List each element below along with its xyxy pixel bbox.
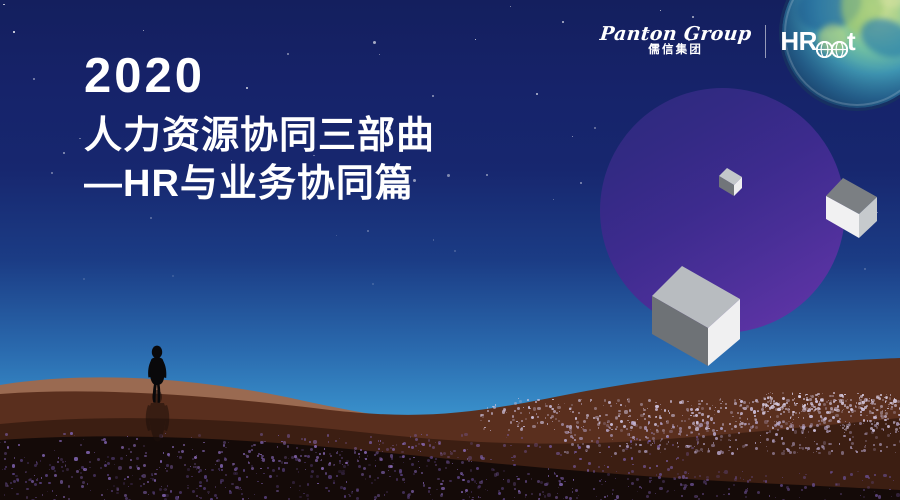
flower-speck	[292, 481, 295, 484]
flower-speck	[525, 418, 527, 420]
flower-speck	[880, 411, 883, 414]
flower-speck	[746, 405, 749, 408]
flower-speck	[682, 459, 684, 461]
flower-speck	[587, 469, 590, 472]
flower-speck	[694, 476, 697, 479]
flower-speck	[93, 474, 96, 477]
flower-speck	[482, 416, 485, 419]
flower-speck	[628, 401, 630, 403]
flower-speck	[261, 483, 263, 485]
flower-speck	[639, 439, 641, 441]
flower-speck	[248, 450, 250, 452]
flower-speck	[377, 494, 380, 497]
flower-speck	[428, 490, 430, 492]
flower-speck	[467, 480, 470, 483]
flower-speck	[836, 409, 839, 412]
flower-speck	[824, 426, 828, 430]
flower-speck	[309, 441, 311, 443]
flower-speck	[871, 399, 875, 403]
flower-speck	[345, 462, 347, 464]
flower-speck	[486, 479, 487, 480]
flower-speck	[878, 425, 879, 426]
flower-speck	[111, 490, 113, 492]
flower-speck	[878, 397, 881, 400]
flower-speck	[890, 433, 891, 434]
flower-speck	[467, 449, 468, 450]
flower-speck	[748, 423, 750, 425]
flower-speck	[525, 480, 528, 483]
flower-speck	[376, 451, 379, 454]
flower-speck	[570, 431, 573, 434]
flower-speck	[844, 429, 845, 430]
flower-speck	[504, 409, 506, 411]
flower-speck	[807, 447, 810, 450]
flower-speck	[68, 485, 71, 488]
flower-speck	[248, 462, 250, 464]
flower-speck	[377, 477, 379, 479]
flower-speck	[684, 420, 686, 422]
flower-speck	[260, 468, 261, 469]
flower-speck	[432, 446, 435, 449]
flower-speck	[277, 446, 279, 448]
flower-speck	[260, 433, 263, 436]
star	[864, 268, 865, 269]
flower-speck	[246, 476, 248, 478]
flower-speck	[76, 470, 79, 473]
flower-speck	[392, 445, 394, 447]
flower-speck	[471, 491, 473, 493]
flower-speck	[630, 440, 632, 442]
flower-speck	[815, 400, 818, 403]
flower-speck	[796, 403, 798, 405]
flower-speck	[649, 467, 651, 469]
flower-speck	[508, 429, 510, 431]
flower-speck	[136, 457, 139, 460]
flower-speck	[194, 463, 196, 465]
flower-speck	[514, 410, 516, 412]
logo-divider	[765, 25, 766, 58]
flower-speck	[800, 447, 802, 449]
flower-speck	[767, 425, 769, 427]
flower-speck	[680, 483, 683, 486]
flower-speck	[653, 433, 655, 435]
flower-speck	[747, 480, 750, 483]
flower-speck	[872, 412, 874, 414]
flower-speck	[294, 455, 297, 458]
flower-speck	[843, 435, 845, 437]
flower-speck	[731, 452, 734, 455]
flower-speck	[608, 401, 611, 404]
flower-speck	[521, 427, 523, 429]
flower-speck	[699, 475, 701, 477]
flower-speck	[594, 407, 597, 410]
flower-speck	[706, 476, 708, 478]
flower-speck	[810, 402, 813, 405]
flower-speck	[340, 486, 343, 489]
flower-speck	[577, 426, 580, 429]
flower-speck	[628, 446, 630, 448]
flower-speck	[65, 461, 66, 462]
flower-speck	[375, 465, 376, 466]
flower-speck	[494, 473, 498, 477]
star	[79, 138, 80, 139]
flower-speck	[272, 469, 275, 472]
flower-speck	[407, 494, 410, 497]
flower-speck	[742, 471, 743, 472]
flower-speck	[838, 408, 840, 410]
flower-speck	[58, 457, 59, 458]
flower-speck	[814, 441, 815, 442]
flower-speck	[670, 400, 672, 402]
flower-speck	[807, 410, 809, 412]
flower-speck	[101, 439, 104, 442]
flower-speck	[595, 416, 599, 420]
flower-speck	[321, 467, 324, 470]
flower-speck	[776, 415, 779, 418]
flower-speck	[728, 493, 730, 495]
flower-speck	[231, 483, 234, 486]
flower-speck	[284, 456, 287, 459]
flower-speck	[711, 444, 714, 447]
flower-speck	[764, 420, 768, 424]
flower-speck	[687, 401, 689, 403]
flower-speck	[356, 489, 359, 492]
flower-speck	[192, 449, 193, 450]
flower-speck	[875, 415, 876, 416]
flower-speck	[427, 459, 430, 462]
flower-speck	[411, 446, 414, 449]
flower-speck	[828, 420, 830, 422]
flower-speck	[599, 415, 600, 416]
flower-speck	[360, 449, 362, 451]
flower-speck	[539, 498, 540, 499]
flower-speck	[735, 476, 738, 479]
flower-speck	[818, 396, 819, 397]
hill-darkest-foreground	[0, 424, 900, 500]
flower-speck	[874, 424, 877, 427]
flower-speck	[678, 476, 681, 479]
flower-speck	[165, 494, 169, 498]
flower-speck	[449, 480, 452, 483]
flower-speck	[221, 451, 223, 453]
flower-speck	[558, 420, 560, 422]
flower-speck	[386, 448, 389, 451]
flower-speck	[86, 451, 90, 455]
flower-speck	[857, 471, 858, 472]
flower-speck	[89, 467, 91, 469]
flower-speck	[816, 424, 819, 427]
flower-speck	[503, 444, 506, 447]
star	[447, 174, 450, 177]
flower-speck	[840, 493, 842, 495]
flower-speck	[854, 424, 855, 425]
flower-speck	[546, 482, 549, 485]
flower-speck	[516, 476, 517, 477]
flower-speck	[893, 444, 895, 446]
flower-speck	[518, 490, 520, 492]
flower-speck	[520, 412, 522, 414]
flower-speck	[330, 455, 332, 457]
flower-speck	[648, 491, 651, 494]
flower-speck	[379, 457, 382, 460]
flower-speck	[798, 395, 801, 398]
flower-speck	[281, 461, 283, 463]
flower-speck	[690, 415, 691, 416]
flower-speck	[214, 494, 217, 497]
flower-speck	[487, 490, 488, 491]
star	[433, 239, 434, 240]
star	[336, 235, 337, 236]
flower-speck	[40, 460, 41, 461]
flower-speck	[839, 399, 843, 403]
flower-speck	[403, 462, 404, 463]
flower-speck	[583, 420, 586, 423]
flower-speck	[852, 436, 854, 438]
flower-speck	[624, 410, 627, 413]
flower-speck	[229, 491, 232, 494]
flower-speck	[517, 407, 520, 410]
flower-speck	[833, 392, 835, 394]
flower-speck	[191, 437, 192, 438]
flower-speck	[763, 397, 766, 400]
flower-speck	[729, 423, 731, 425]
flower-speck	[299, 496, 302, 499]
flower-speck	[476, 467, 479, 470]
flower-speck	[768, 393, 769, 394]
flower-speck	[66, 468, 69, 471]
flower-speck	[788, 411, 790, 413]
flower-speck	[104, 441, 107, 444]
flower-speck	[875, 436, 878, 439]
flower-speck	[893, 411, 896, 414]
flower-speck	[765, 475, 767, 477]
flower-speck	[276, 475, 278, 477]
flower-speck	[34, 464, 37, 467]
flower-speck	[11, 488, 12, 489]
flower-speck	[703, 481, 707, 485]
flower-speck	[70, 432, 73, 435]
flower-speck	[319, 453, 321, 455]
flower-speck	[792, 411, 795, 414]
flower-speck	[874, 421, 875, 422]
flower-speck	[593, 470, 596, 473]
flower-speck	[391, 457, 393, 459]
star	[150, 217, 152, 219]
flower-speck	[874, 403, 876, 405]
flower-speck	[469, 496, 470, 497]
flower-speck	[753, 410, 757, 414]
flower-speck	[582, 443, 584, 445]
flower-speck	[13, 480, 16, 483]
flower-speck	[539, 446, 541, 448]
flower-speck	[160, 460, 163, 463]
flower-speck	[622, 449, 625, 452]
flower-speck	[881, 428, 883, 430]
flower-speck	[345, 442, 347, 444]
flower-speck	[544, 495, 547, 498]
flower-speck	[773, 401, 775, 403]
flower-speck	[282, 468, 285, 471]
flower-speck	[532, 425, 536, 429]
flower-speck	[74, 457, 77, 460]
flower-speck	[468, 460, 470, 462]
hroot-suffix: t	[847, 28, 855, 54]
flower-speck	[423, 484, 425, 486]
flower-speck	[801, 411, 802, 412]
flower-speck	[426, 465, 428, 467]
flower-speck	[333, 480, 335, 482]
flower-speck	[785, 408, 787, 410]
flower-speck	[893, 399, 897, 403]
star	[553, 199, 554, 200]
flower-speck	[303, 493, 305, 495]
flower-speck	[865, 475, 869, 479]
flower-speck	[724, 470, 728, 474]
flower-speck	[287, 445, 289, 447]
flower-speck	[314, 445, 317, 448]
cube-small	[718, 168, 744, 196]
flower-speck	[716, 495, 718, 497]
hroot-logo[interactable]: HR t	[780, 28, 855, 54]
title-main-line: 人力资源协同三部曲	[84, 113, 435, 159]
flower-speck	[581, 403, 583, 405]
flower-speck	[728, 450, 729, 451]
flower-speck	[202, 450, 205, 453]
flower-speck	[41, 477, 43, 479]
flower-speck	[418, 450, 419, 451]
flower-speck	[523, 426, 524, 427]
flower-speck	[325, 472, 328, 475]
flower-speck	[48, 482, 50, 484]
flower-speck	[422, 443, 425, 446]
flower-speck	[657, 425, 659, 427]
flower-speck	[315, 459, 318, 462]
flower-speck	[666, 460, 668, 462]
flower-speck	[794, 430, 797, 433]
flower-speck	[136, 438, 138, 440]
flower-speck	[533, 407, 536, 410]
flower-speck	[264, 441, 265, 442]
flower-speck	[113, 485, 115, 487]
flower-speck	[364, 468, 366, 470]
title-sub-line: —HR与业务协同篇	[84, 161, 435, 207]
flower-speck	[760, 442, 762, 444]
flower-speck	[757, 410, 759, 412]
flower-speck	[630, 447, 632, 449]
flower-speck	[864, 433, 867, 436]
flower-speck	[691, 412, 694, 415]
flower-speck	[809, 415, 813, 419]
flower-speck	[777, 408, 781, 412]
flower-speck	[183, 444, 185, 446]
flower-speck	[605, 414, 607, 416]
star	[536, 93, 538, 95]
flower-speck	[301, 438, 303, 440]
flower-speck	[775, 497, 776, 498]
flower-speck	[470, 442, 473, 445]
promo-banner: 2020 人力资源协同三部曲 —HR与业务协同篇 Panton Group 儒信…	[0, 0, 900, 500]
flower-speck	[611, 429, 613, 431]
flower-speck	[856, 451, 858, 453]
flower-speck	[480, 497, 481, 498]
flower-speck	[713, 432, 717, 436]
flower-speck	[513, 482, 516, 485]
flower-speck	[894, 404, 897, 407]
flower-speck	[702, 435, 705, 438]
flower-speck	[889, 476, 891, 478]
flower-speck	[670, 466, 673, 469]
flower-speck	[684, 484, 687, 487]
flower-speck	[26, 488, 29, 491]
flower-speck	[823, 441, 827, 445]
flower-speck	[339, 462, 341, 464]
flower-speck	[51, 466, 54, 469]
flower-speck	[686, 452, 690, 456]
flower-speck	[770, 402, 772, 404]
flower-speck	[333, 482, 335, 484]
flower-speck	[109, 478, 111, 480]
flower-speck	[815, 398, 817, 400]
flower-speck	[830, 472, 832, 474]
flower-speck	[384, 494, 385, 495]
flower-speck	[560, 454, 562, 456]
flower-speck	[80, 472, 81, 473]
flower-speck	[701, 413, 704, 416]
flower-speck	[655, 405, 658, 408]
flower-speck	[408, 446, 410, 448]
flower-speck	[569, 408, 571, 410]
flower-speck	[644, 418, 646, 420]
star	[13, 31, 15, 33]
flower-speck	[457, 476, 460, 479]
flower-speck	[749, 402, 750, 403]
flower-speck	[286, 462, 288, 464]
flower-speck	[860, 414, 863, 417]
flower-speck	[728, 488, 730, 490]
flower-speck	[435, 458, 437, 460]
flower-speck	[507, 434, 509, 436]
flower-speck	[349, 495, 351, 497]
flower-speck	[310, 464, 313, 467]
flower-speck	[418, 443, 420, 445]
panton-group-logo[interactable]: Panton Group 儒信集团	[600, 25, 751, 57]
flower-speck	[820, 398, 824, 402]
flower-speck	[531, 493, 533, 495]
flower-speck	[411, 490, 413, 492]
flower-speck	[365, 478, 367, 480]
flower-speck	[165, 468, 166, 469]
flower-speck	[596, 440, 599, 443]
flower-speck	[386, 491, 388, 493]
flower-speck	[36, 461, 38, 463]
flower-speck	[608, 446, 610, 448]
flower-speck	[772, 452, 775, 455]
flower-speck	[628, 486, 629, 487]
flower-speck	[477, 486, 480, 489]
flower-speck	[809, 398, 812, 401]
flower-speck	[18, 444, 20, 446]
flower-speck	[220, 464, 224, 468]
flower-speck	[656, 465, 658, 467]
flower-speck	[514, 488, 516, 490]
flower-speck	[849, 438, 852, 441]
flower-speck	[510, 421, 513, 424]
flower-speck	[490, 459, 491, 460]
star	[33, 78, 35, 80]
flower-speck	[551, 408, 553, 410]
flower-speck	[864, 406, 866, 408]
flower-speck	[369, 441, 372, 444]
